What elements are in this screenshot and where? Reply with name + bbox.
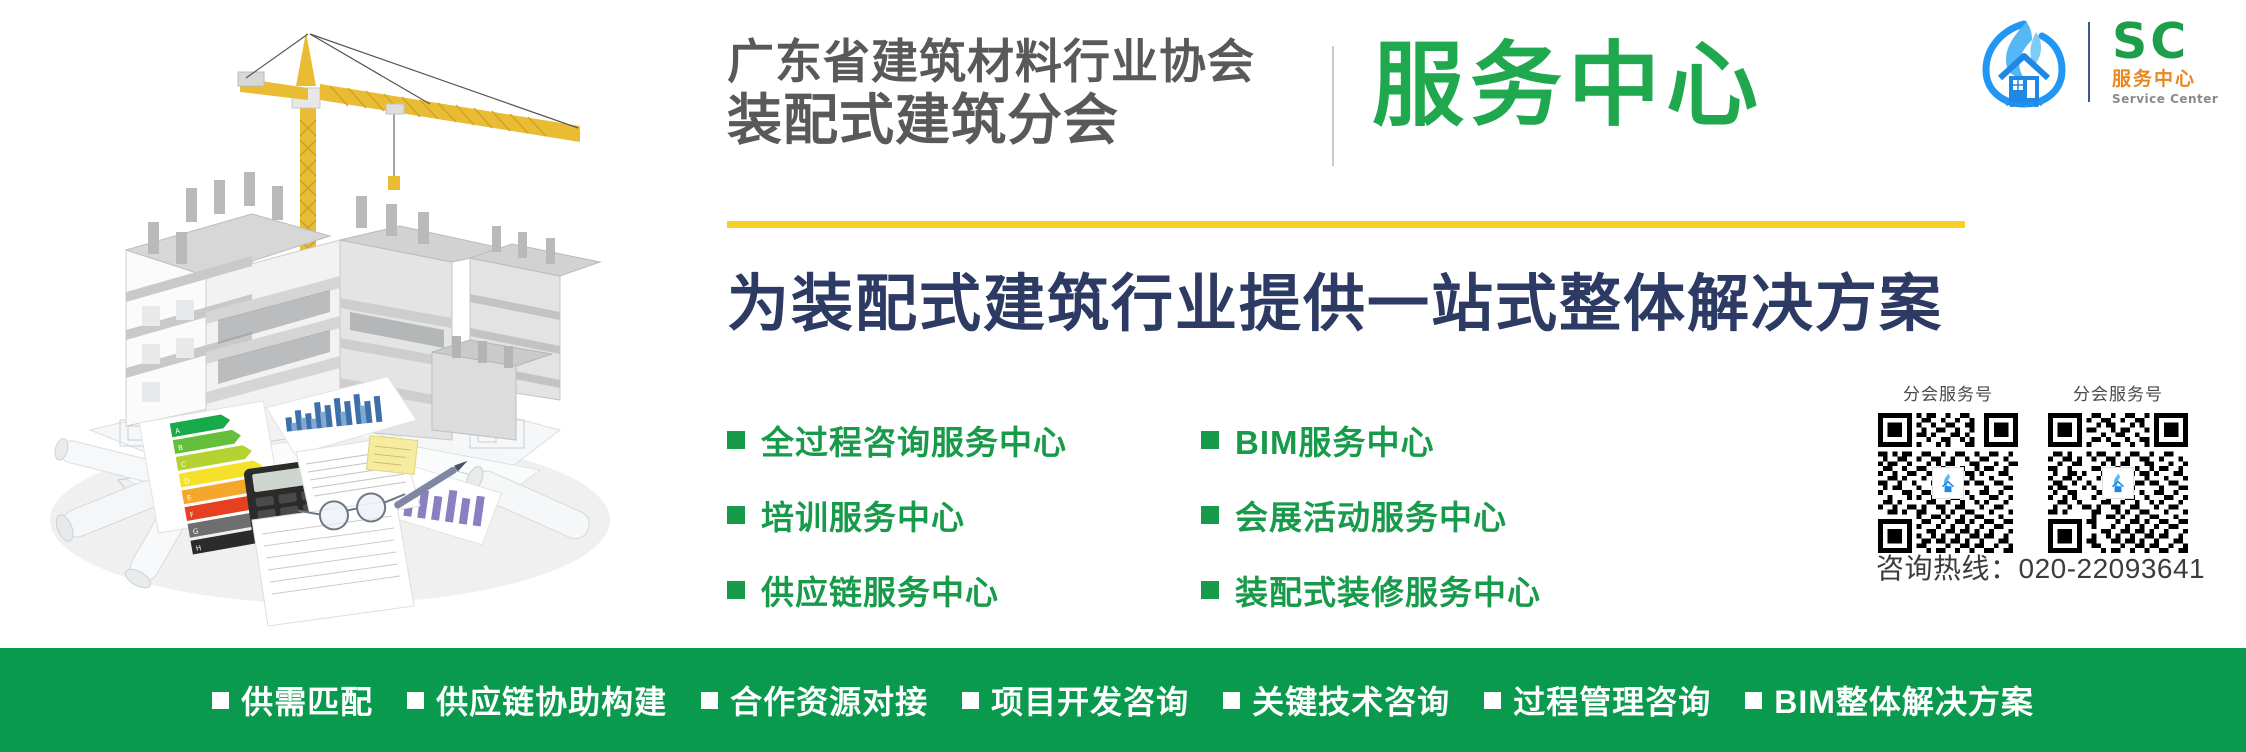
- square-bullet-icon: [407, 692, 424, 709]
- list-item[interactable]: BIM服务中心: [1201, 415, 1541, 465]
- service-label: 全过程咨询服务中心: [761, 416, 1067, 464]
- list-item[interactable]: 培训服务中心: [727, 490, 1067, 540]
- tag-item[interactable]: 合作资源对接: [701, 677, 928, 723]
- tag-item[interactable]: BIM整体解决方案: [1745, 677, 2034, 723]
- association-line-1: 广东省建筑材料行业协会: [727, 38, 1287, 87]
- tag-item[interactable]: 关键技术咨询: [1223, 677, 1450, 723]
- square-bullet-icon: [727, 431, 745, 449]
- tag-item[interactable]: 供需匹配: [212, 677, 373, 723]
- list-item[interactable]: 装配式装修服务中心: [1201, 565, 1541, 615]
- service-label: BIM服务中心: [1235, 416, 1435, 464]
- square-bullet-icon: [727, 506, 745, 524]
- service-center-heading: 服务中心: [1372, 36, 1764, 137]
- qr-caption: 分会服务号: [2048, 380, 2188, 405]
- tag-item[interactable]: 供应链协助构建: [407, 677, 667, 723]
- square-bullet-icon: [962, 692, 979, 709]
- square-bullet-icon: [1201, 431, 1219, 449]
- brand-logo[interactable]: -GDPCB- SC 服务中心 Service Center: [1976, 16, 2234, 108]
- banner-root: AB CD EF GH: [0, 0, 2246, 752]
- qr-embedded-logo-icon: [1932, 467, 1964, 499]
- sc-wordmark: SC 服务中心 Service Center: [2112, 18, 2232, 106]
- tag-label: 过程管理咨询: [1513, 677, 1711, 723]
- title-block: 广东省建筑材料行业协会 装配式建筑分会 服务中心: [727, 38, 1967, 198]
- association-name: 广东省建筑材料行业协会 装配式建筑分会: [727, 38, 1287, 149]
- square-bullet-icon: [212, 692, 229, 709]
- tag-label: 合作资源对接: [730, 677, 928, 723]
- square-bullet-icon: [1484, 692, 1501, 709]
- sc-chinese-label: 服务中心: [2112, 68, 2232, 92]
- service-list-right: BIM服务中心 会展活动服务中心 装配式装修服务中心: [1201, 415, 1541, 640]
- sc-letters: SC: [2112, 18, 2232, 66]
- qr-code-image-2[interactable]: [2048, 413, 2188, 553]
- tag-label: 供需匹配: [241, 677, 373, 723]
- association-line-2: 装配式建筑分会: [727, 91, 1287, 149]
- gold-divider-rule: [727, 221, 1965, 228]
- service-label: 装配式装修服务中心: [1235, 566, 1541, 614]
- list-item[interactable]: 供应链服务中心: [727, 565, 1067, 615]
- tag-item[interactable]: 过程管理咨询: [1484, 677, 1711, 723]
- square-bullet-icon: [1223, 692, 1240, 709]
- service-label: 培训服务中心: [761, 491, 965, 539]
- tag-label: 项目开发咨询: [991, 677, 1189, 723]
- qr-cell[interactable]: 分会服务号: [1878, 380, 2018, 553]
- qr-code-block: 分会服务号: [1878, 380, 2228, 553]
- title-divider: [1332, 46, 1334, 166]
- qr-embedded-logo-icon: [2102, 467, 2134, 499]
- square-bullet-icon: [1201, 506, 1219, 524]
- list-item[interactable]: 会展活动服务中心: [1201, 490, 1541, 540]
- square-bullet-icon: [1745, 692, 1762, 709]
- construction-render-illustration: AB CD EF GH: [0, 0, 640, 648]
- square-bullet-icon: [1201, 581, 1219, 599]
- slogan-text: 为装配式建筑行业提供一站式整体解决方案: [727, 253, 1943, 343]
- tag-label: 关键技术咨询: [1252, 677, 1450, 723]
- gdpcb-mark-text: -GDPCB-: [2005, 100, 2043, 108]
- list-item[interactable]: 全过程咨询服务中心: [727, 415, 1067, 465]
- square-bullet-icon: [727, 581, 745, 599]
- bottom-tag-bar: 供需匹配 供应链协助构建 合作资源对接 项目开发咨询 关键技术咨询 过程管理咨询: [0, 648, 2246, 752]
- hotline-text: 咨询热线：020-22093641: [1876, 547, 2205, 587]
- gdpcb-flame-house-icon: -GDPCB-: [1976, 16, 2072, 108]
- sc-english-label: Service Center: [2112, 92, 2232, 106]
- tag-label: BIM整体解决方案: [1774, 677, 2034, 723]
- tag-item[interactable]: 项目开发咨询: [962, 677, 1189, 723]
- service-label: 供应链服务中心: [761, 566, 999, 614]
- logo-divider: [2088, 22, 2090, 102]
- service-label: 会展活动服务中心: [1235, 491, 1507, 539]
- qr-cell[interactable]: 分会服务号: [2048, 380, 2188, 553]
- qr-caption: 分会服务号: [1878, 380, 2018, 405]
- qr-code-image-1[interactable]: [1878, 413, 2018, 553]
- service-list-left: 全过程咨询服务中心 培训服务中心 供应链服务中心: [727, 415, 1067, 640]
- square-bullet-icon: [701, 692, 718, 709]
- hero-construction-image: AB CD EF GH: [0, 0, 640, 648]
- tag-label: 供应链协助构建: [436, 677, 667, 723]
